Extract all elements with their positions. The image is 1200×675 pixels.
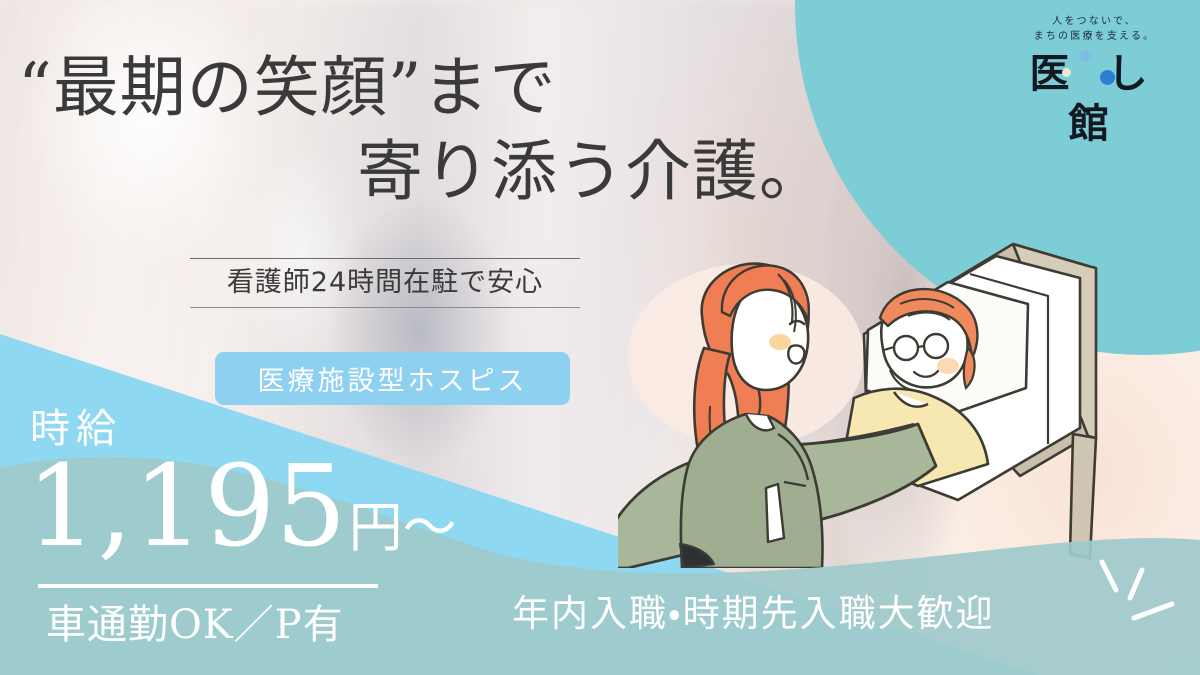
- headline-line-2: 寄り添う介護。: [0, 130, 850, 214]
- logo-tagline-line2: まちの医療を支える。: [1007, 29, 1182, 44]
- logo-mark: 医 し 館: [1007, 49, 1182, 99]
- logo-name: 医 し 館: [1007, 49, 1182, 149]
- wage-amount: 1,195 円〜: [22, 449, 422, 565]
- catch-text: 年内入職・時期先入職大歓迎: [512, 586, 995, 642]
- wage-unit: 円〜: [349, 491, 457, 565]
- facility-type-badge: 医療施設型ホスピス: [215, 352, 570, 405]
- perk-divider: [38, 584, 378, 588]
- logo-dot-blue-icon: [1100, 70, 1115, 85]
- subtitle-text: 看護師24時間在駐で安心: [190, 259, 580, 307]
- logo-tagline-line1: 人をつないで、: [1007, 14, 1182, 29]
- wage-number: 1,195: [26, 449, 347, 565]
- perk-text: 車通勤OK／P有: [46, 596, 406, 654]
- logo-dot-light-blue-icon: [1080, 50, 1092, 62]
- facility-type-badge-label: 医療施設型ホスピス: [258, 359, 528, 398]
- job-ad-banner: 人をつないで、 まちの医療を支える。 医 し 館 “最期の笑顔”まで 寄り添う介…: [0, 0, 1200, 675]
- brand-logo: 人をつないで、 まちの医療を支える。 医 し 館: [1007, 14, 1182, 99]
- subtitle-block: 看護師24時間在駐で安心: [190, 258, 580, 308]
- headline: “最期の笑顔”まで 寄り添う介護。: [0, 46, 850, 214]
- sparkle-lines-icon: [1090, 556, 1200, 646]
- subtitle-rule-bottom: [190, 307, 580, 308]
- headline-line-1: “最期の笑顔”まで: [0, 46, 850, 130]
- wage-block: 時給 1,195 円〜: [22, 405, 422, 565]
- logo-dot-cream-icon: [1062, 68, 1071, 77]
